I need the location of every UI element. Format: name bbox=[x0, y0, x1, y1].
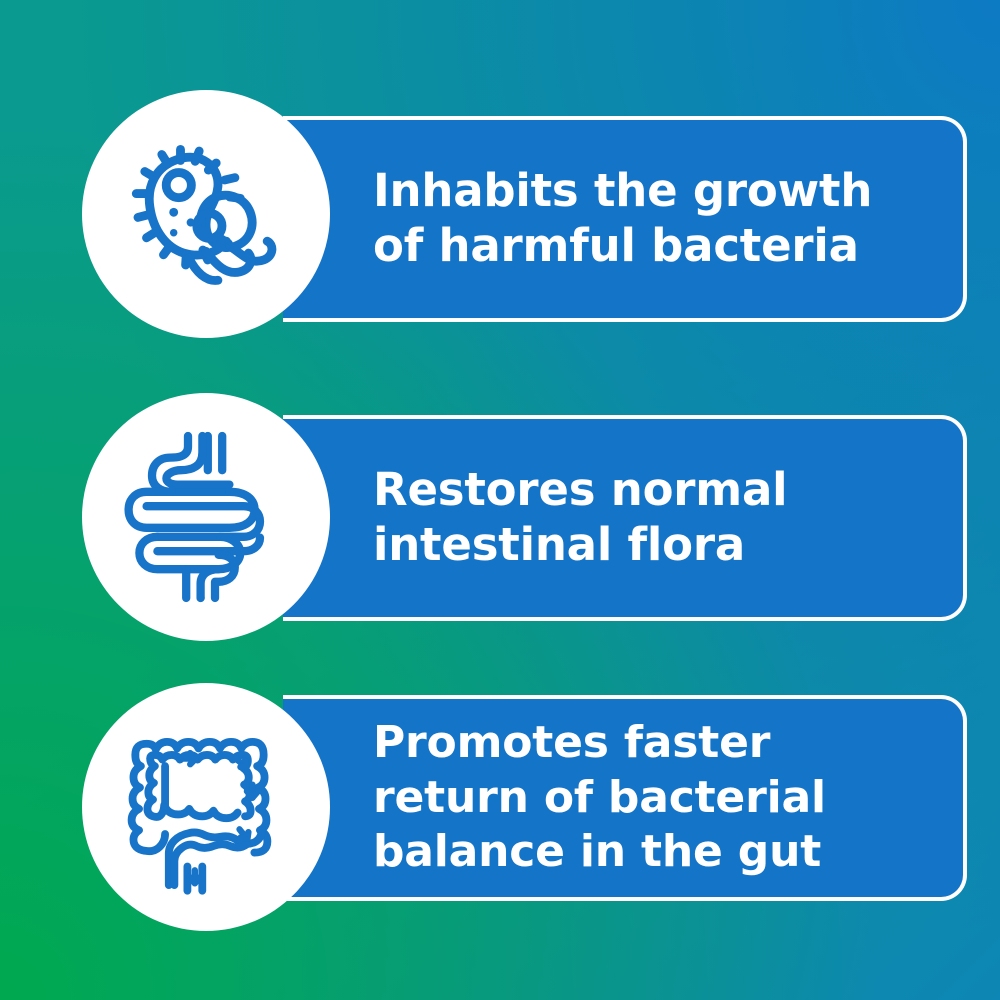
bacteria-icon bbox=[121, 129, 291, 299]
benefit-row: Inhabits the growth of harmful bacteria bbox=[0, 90, 1000, 338]
benefit-text: Inhabits the growth of harmful bacteria bbox=[283, 164, 896, 274]
benefit-icon-circle bbox=[82, 393, 330, 641]
benefit-text: Restores normal intestinal flora bbox=[283, 463, 811, 573]
benefit-row: Restores normal intestinal flora bbox=[0, 393, 1000, 641]
benefit-text: Promotes faster return of bacterial bala… bbox=[283, 716, 850, 880]
infographic-canvas: Inhabits the growth of harmful bacteria bbox=[0, 0, 1000, 1000]
benefit-card: Promotes faster return of bacterial bala… bbox=[283, 695, 967, 901]
small-intestine-icon bbox=[116, 427, 296, 607]
benefit-icon-circle bbox=[82, 683, 330, 931]
benefit-card: Restores normal intestinal flora bbox=[283, 415, 967, 621]
large-intestine-colon-icon bbox=[113, 714, 299, 900]
benefit-card: Inhabits the growth of harmful bacteria bbox=[283, 116, 967, 322]
benefit-row: Promotes faster return of bacterial bala… bbox=[0, 683, 1000, 931]
benefit-icon-circle bbox=[82, 90, 330, 338]
